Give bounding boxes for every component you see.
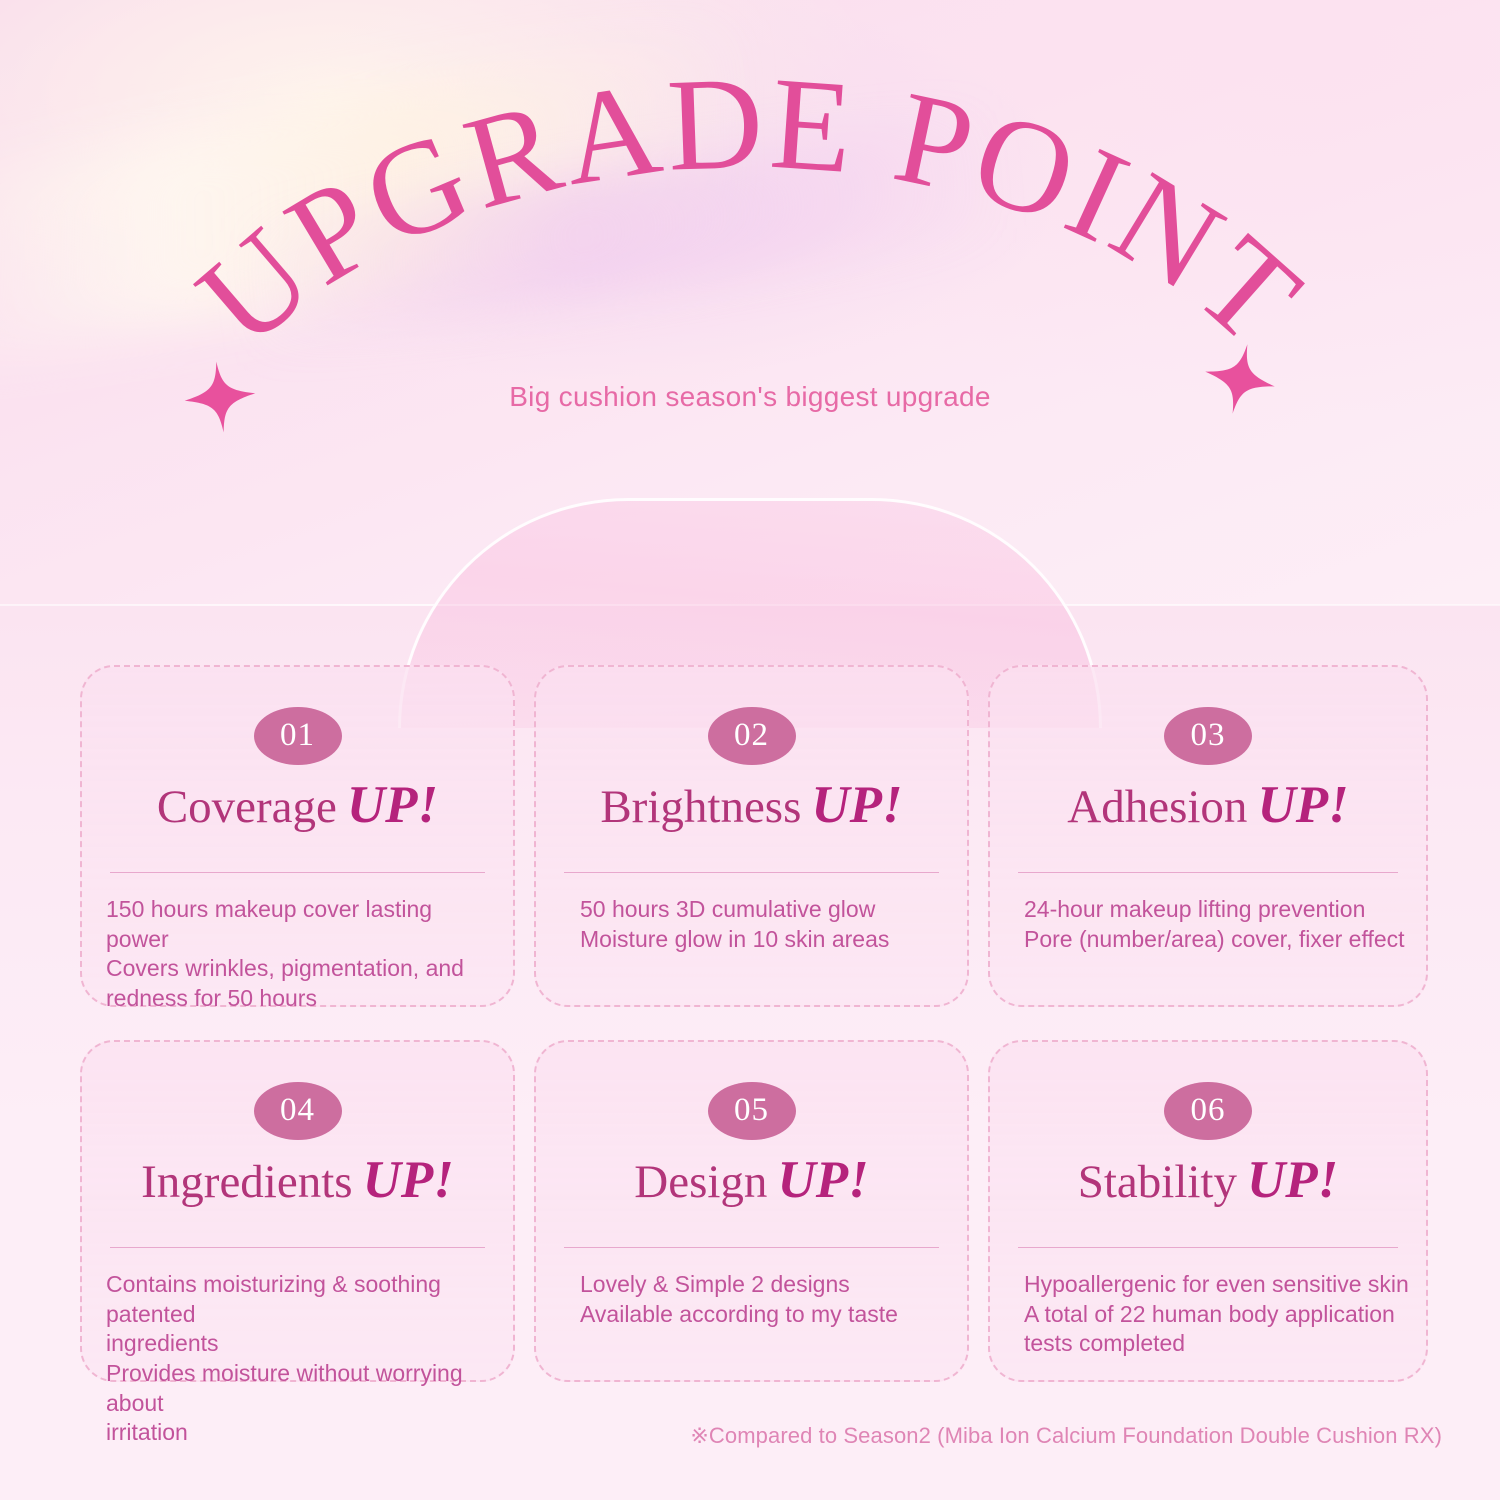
upgrade-card-04: 04 IngredientsUP! Contains moisturizing … <box>80 1040 515 1382</box>
card-number-badge: 05 <box>708 1082 796 1140</box>
footnote: ※Compared to Season2 (Miba Ion Calcium F… <box>690 1423 1442 1449</box>
card-number-badge: 06 <box>1164 1082 1252 1140</box>
upgrade-card-06: 06 StabilityUP! Hypoallergenic for even … <box>988 1040 1428 1382</box>
card-body-text: Contains moisturizing & soothing patente… <box>106 1270 499 1448</box>
card-heading: StabilityUP! <box>990 1154 1426 1207</box>
card-divider <box>1018 872 1398 873</box>
card-number-badge: 02 <box>708 707 796 765</box>
card-heading-word: Brightness <box>600 781 801 833</box>
upgrade-card-02: 02 BrightnessUP! 50 hours 3D cumulative … <box>534 665 969 1007</box>
card-heading-word: Design <box>634 1156 767 1208</box>
card-body-text: 24-hour makeup lifting prevention Pore (… <box>1024 895 1412 954</box>
card-body-text: Hypoallergenic for even sensitive skin A… <box>1024 1270 1412 1359</box>
sparkle-star-icon-left <box>179 356 260 437</box>
card-heading: DesignUP! <box>536 1154 967 1207</box>
card-heading-up: UP! <box>777 1151 868 1209</box>
card-body-text: 50 hours 3D cumulative glow Moisture glo… <box>580 895 953 954</box>
card-heading-up: UP! <box>363 1151 454 1209</box>
card-heading: IngredientsUP! <box>82 1154 513 1207</box>
card-heading-word: Adhesion <box>1067 781 1247 833</box>
card-heading-up: UP! <box>811 776 902 834</box>
card-number-badge: 01 <box>254 707 342 765</box>
card-heading-word: Stability <box>1078 1156 1237 1208</box>
card-heading-up: UP! <box>1257 776 1348 834</box>
card-number-badge: 04 <box>254 1082 342 1140</box>
card-heading-up: UP! <box>347 776 438 834</box>
card-heading: CoverageUP! <box>82 779 513 832</box>
upgrade-point-grid: 01 CoverageUP! 150 hours makeup cover la… <box>80 665 1428 1382</box>
card-heading: BrightnessUP! <box>536 779 967 832</box>
upgrade-card-01: 01 CoverageUP! 150 hours makeup cover la… <box>80 665 515 1007</box>
card-divider <box>110 872 485 873</box>
card-heading-word: Ingredients <box>141 1156 352 1208</box>
card-heading: AdhesionUP! <box>990 779 1426 832</box>
card-body-text: 150 hours makeup cover lasting power Cov… <box>106 895 499 1014</box>
card-divider <box>564 872 939 873</box>
card-heading-up: UP! <box>1247 1151 1338 1209</box>
card-number-badge: 03 <box>1164 707 1252 765</box>
card-divider <box>110 1247 485 1248</box>
card-heading-word: Coverage <box>157 781 337 833</box>
upgrade-card-05: 05 DesignUP! Lovely & Simple 2 designs A… <box>534 1040 969 1382</box>
upgrade-card-03: 03 AdhesionUP! 24-hour makeup lifting pr… <box>988 665 1428 1007</box>
card-divider <box>1018 1247 1398 1248</box>
promo-page: UPGRADE POINT Big cushion season's bigge… <box>0 0 1500 1500</box>
card-divider <box>564 1247 939 1248</box>
sparkle-star-icon-right <box>1196 335 1284 423</box>
card-body-text: Lovely & Simple 2 designs Available acco… <box>580 1270 953 1329</box>
